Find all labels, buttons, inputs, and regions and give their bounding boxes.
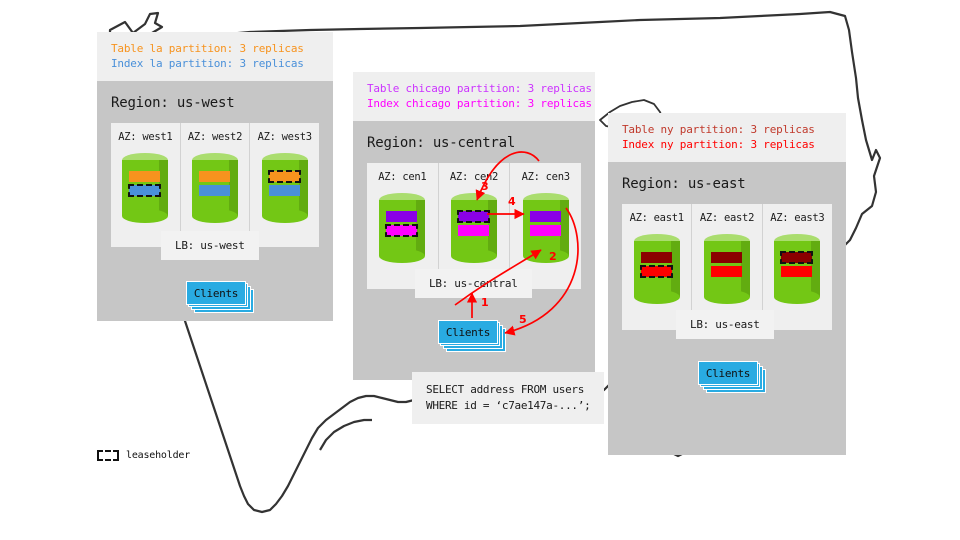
lb-us-east[interactable]: LB: us-east	[676, 310, 774, 339]
clients-us-central[interactable]: Clients	[438, 320, 498, 344]
flow-step-number-3: 3	[481, 180, 489, 193]
region-body-us-east: Region: us-east AZ: east1 AZ: east2	[608, 162, 846, 455]
region-panel-us-west: Table la partition: 3 replicas Index la …	[97, 32, 333, 321]
region-title-us-central: Region: us-central	[353, 121, 595, 163]
flow-step-number-5: 5	[519, 313, 527, 326]
index-band-cen3	[530, 225, 561, 236]
partition-note-us-east: Table ny partition: 3 replicas Index ny …	[608, 113, 846, 162]
clients-us-west-label: Clients	[186, 281, 246, 305]
sql-line-1: SELECT address FROM users	[426, 382, 590, 398]
cylinder-bottom	[634, 290, 680, 304]
az-label-cen3: AZ: cen3	[510, 171, 581, 183]
node-cylinder-east3[interactable]	[774, 234, 820, 304]
leaseholder-dashed-rectangle-icon	[97, 450, 119, 461]
region-title-us-east: Region: us-east	[608, 162, 846, 204]
az-label-east3: AZ: east3	[763, 212, 832, 224]
lb-us-west-label: LB: us-west	[175, 239, 245, 252]
az-label-cen2: AZ: cen2	[439, 171, 510, 183]
index-band-west2	[199, 185, 230, 196]
az-cell-west3[interactable]: AZ: west3	[250, 123, 319, 247]
az-label-west2: AZ: west2	[181, 131, 250, 143]
cylinder-bottom	[774, 290, 820, 304]
index-band-east2	[711, 266, 742, 277]
index-band-west3	[269, 185, 300, 196]
cylinder-bottom	[523, 249, 569, 263]
legend-label: leaseholder	[126, 450, 190, 461]
index-partition-line: Index chicago partition: 3 replicas	[367, 96, 581, 111]
az-label-west1: AZ: west1	[111, 131, 180, 143]
legend: leaseholder	[97, 450, 190, 461]
table-band-west1	[129, 171, 160, 182]
index-band-cen2	[458, 225, 489, 236]
node-cylinder-west2[interactable]	[192, 153, 238, 223]
az-strip-us-west: AZ: west1 AZ: west2	[111, 123, 319, 247]
table-band-cen2	[458, 211, 489, 222]
clients-us-east[interactable]: Clients	[698, 361, 758, 385]
table-band-east3	[781, 252, 812, 263]
table-band-west2	[199, 171, 230, 182]
table-band-east1	[641, 252, 672, 263]
index-partition-line: Index ny partition: 3 replicas	[622, 137, 832, 152]
node-cylinder-west1[interactable]	[122, 153, 168, 223]
sql-query-box: SELECT address FROM users WHERE id = ‘c7…	[412, 372, 604, 424]
clients-us-west[interactable]: Clients	[186, 281, 246, 305]
cylinder-bottom	[262, 209, 308, 223]
table-band-cen1	[386, 211, 417, 222]
index-band-east3	[781, 266, 812, 277]
sql-line-2: WHERE id = ‘c7ae147a-...’;	[426, 398, 590, 414]
table-partition-line: Table la partition: 3 replicas	[111, 41, 319, 56]
flow-step-number-1: 1	[481, 296, 489, 309]
lb-us-central[interactable]: LB: us-central	[415, 269, 532, 298]
node-cylinder-east1[interactable]	[634, 234, 680, 304]
node-cylinder-cen1[interactable]	[379, 193, 425, 263]
index-partition-line: Index la partition: 3 replicas	[111, 56, 319, 71]
node-cylinder-cen3[interactable]	[523, 193, 569, 263]
clients-us-east-label: Clients	[698, 361, 758, 385]
az-label-east1: AZ: east1	[622, 212, 691, 224]
lb-us-east-label: LB: us-east	[690, 318, 760, 331]
table-band-east2	[711, 252, 742, 263]
flow-step-number-4: 4	[508, 195, 516, 208]
diagram-canvas: Table la partition: 3 replicas Index la …	[0, 0, 960, 540]
az-label-west3: AZ: west3	[250, 131, 319, 143]
table-partition-line: Table chicago partition: 3 replicas	[367, 81, 581, 96]
cylinder-bottom	[122, 209, 168, 223]
lb-us-west[interactable]: LB: us-west	[161, 231, 259, 260]
cylinder-bottom	[192, 209, 238, 223]
cylinder-bottom	[704, 290, 750, 304]
node-cylinder-cen2[interactable]	[451, 193, 497, 263]
node-cylinder-east2[interactable]	[704, 234, 750, 304]
index-band-east1	[641, 266, 672, 277]
region-title-us-west: Region: us-west	[97, 81, 333, 123]
table-partition-line: Table ny partition: 3 replicas	[622, 122, 832, 137]
lb-us-central-label: LB: us-central	[429, 277, 518, 290]
node-cylinder-west3[interactable]	[262, 153, 308, 223]
az-cell-west1[interactable]: AZ: west1	[111, 123, 181, 247]
cylinder-bottom	[379, 249, 425, 263]
clients-us-central-label: Clients	[438, 320, 498, 344]
cylinder-bottom	[451, 249, 497, 263]
az-cell-west2[interactable]: AZ: west2	[181, 123, 251, 247]
partition-note-us-west: Table la partition: 3 replicas Index la …	[97, 32, 333, 81]
index-band-cen1	[386, 225, 417, 236]
partition-note-us-central: Table chicago partition: 3 replicas Inde…	[353, 72, 595, 121]
az-label-east2: AZ: east2	[692, 212, 761, 224]
table-band-west3	[269, 171, 300, 182]
az-label-cen1: AZ: cen1	[367, 171, 438, 183]
flow-step-number-2: 2	[549, 250, 557, 263]
region-panel-us-east: Table ny partition: 3 replicas Index ny …	[608, 113, 846, 455]
index-band-west1	[129, 185, 160, 196]
table-band-cen3	[530, 211, 561, 222]
